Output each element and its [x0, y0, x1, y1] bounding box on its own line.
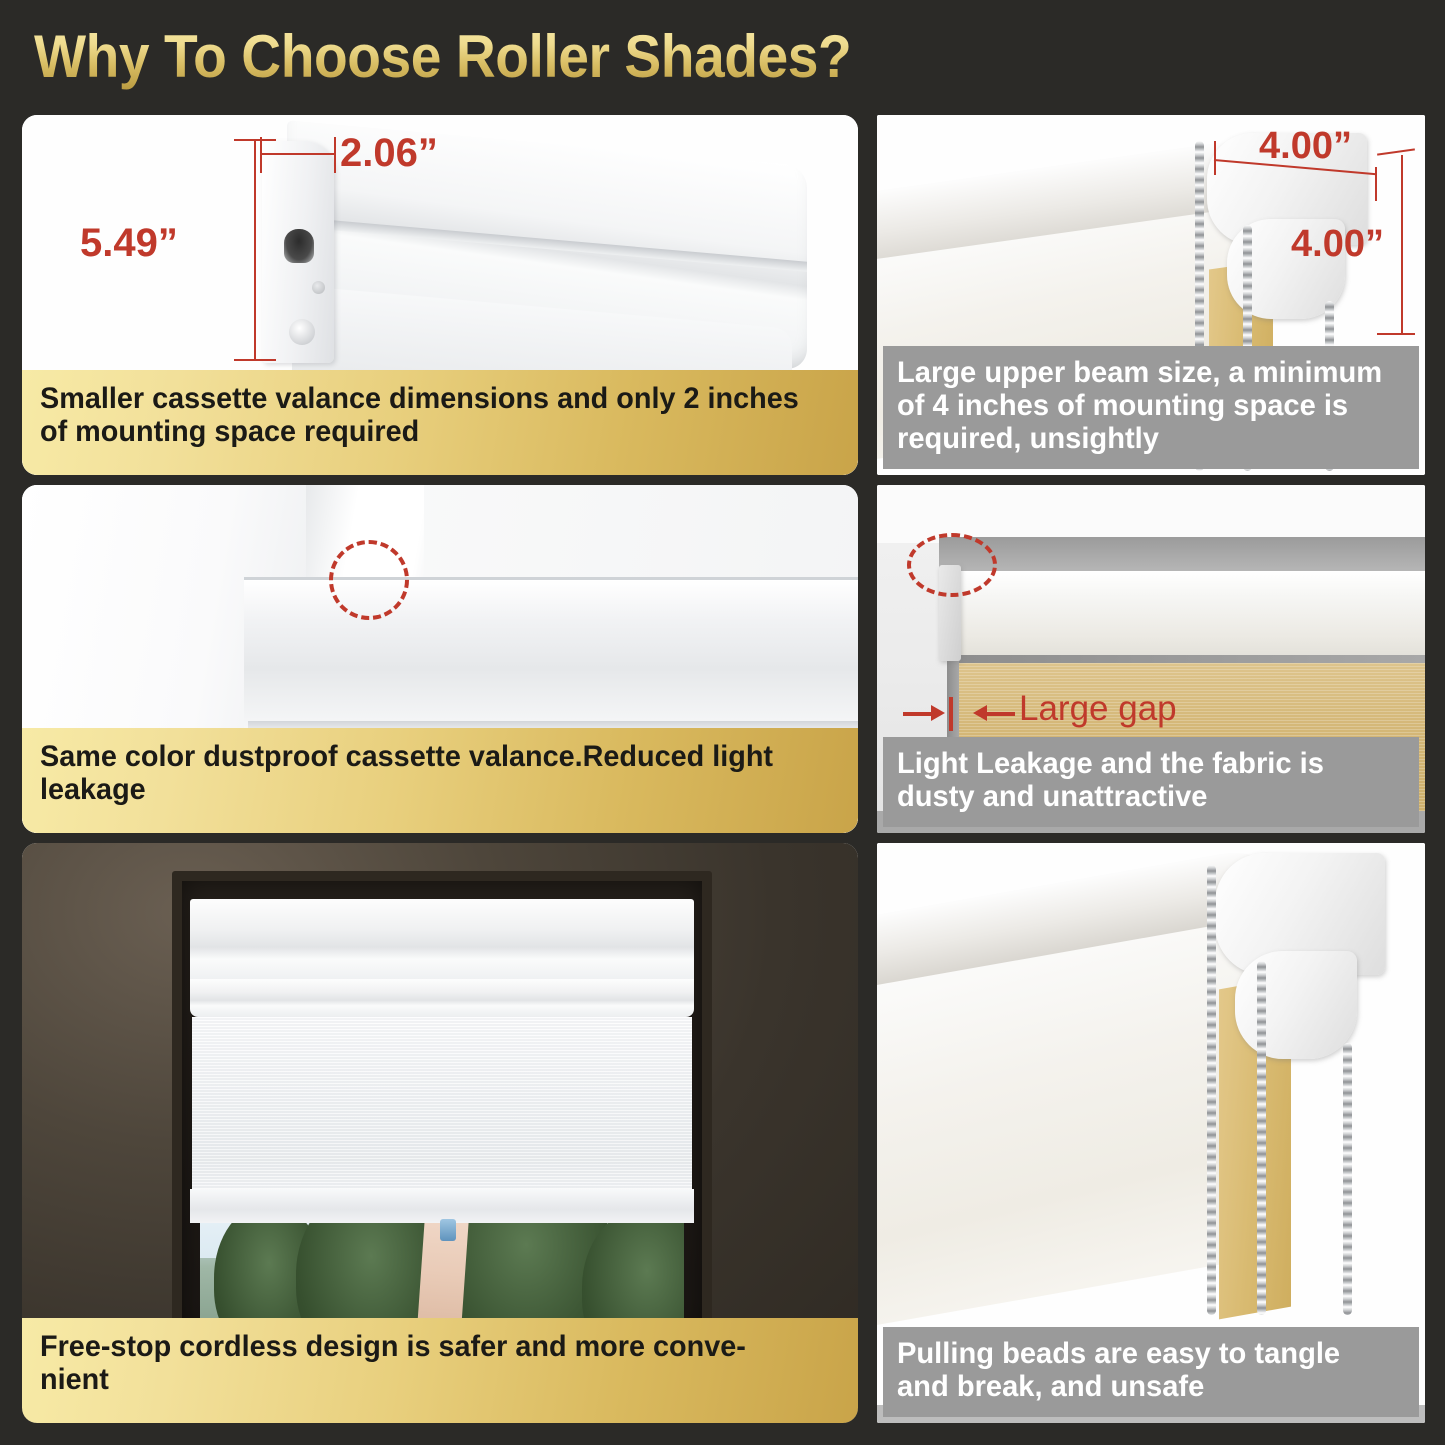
panel-pro-cordless-design: Free-stop cordless design is safer and m… [22, 843, 858, 1423]
page-title: Why To Choose Roller Shades? [34, 22, 851, 91]
bead-chain-left [1207, 865, 1216, 1315]
pull-handle [440, 1219, 456, 1241]
gap-arrow-right-head [973, 705, 987, 721]
cassette-slot-icon [284, 229, 314, 263]
window-frame-illustration [172, 871, 712, 1343]
valance-bottom-edge [947, 655, 1425, 663]
caption-con-pulling-beads: Pulling beads are easy to tangle and bre… [883, 1327, 1419, 1417]
caption-pro-dustproof-valance: Same color dustproof cassette valance.Re… [22, 728, 858, 833]
panel-con-light-leakage: Large gap Light Leakage and the fabric i… [877, 485, 1425, 833]
panel-pro-dustproof-valance: smaller gap Same color dustproof cassett… [22, 485, 858, 833]
shade-bottom-rail-illustration [190, 1189, 694, 1223]
panel-con-upper-beam-size: 4.00” 4.00” Large upper beam size, a min… [877, 115, 1425, 475]
gap-arrow-right-stem [987, 712, 1015, 716]
panel-pro-cassette-size: 2.06” 5.49” Smaller cassette valance dim… [22, 115, 858, 475]
beam-width-dimension-label: 4.00” [1259, 125, 1352, 168]
comparison-grid: 2.06” 5.49” Smaller cassette valance dim… [0, 112, 1445, 1445]
height-dimension-label: 5.49” [80, 221, 178, 266]
cassette-screw-icon [289, 319, 315, 345]
shade-fabric-illustration [192, 1017, 692, 1197]
bead-chain-mid [1257, 961, 1266, 1315]
valance-lower-lip-illustration [190, 979, 694, 1017]
gap-arrow-left-stem [903, 712, 933, 716]
upper-shadow-band [939, 537, 1425, 573]
caption-text: Light Leakage and the fabric is dusty an… [897, 747, 1390, 813]
gap-marker [949, 697, 953, 731]
cassette-valance-illustration [190, 899, 694, 985]
caption-con-light-leakage: Light Leakage and the fabric is dusty an… [883, 737, 1419, 827]
cassette-end-cap-illustration [262, 141, 334, 363]
caption-text: Smaller cassette valance dimensions and … [40, 382, 808, 449]
gap-arrow-left-head [931, 705, 945, 721]
roller-bracket-lower-illustration [1235, 951, 1357, 1059]
width-dimension-label: 2.06” [340, 131, 438, 176]
highlight-circle-gap [329, 540, 409, 620]
beam-height-dimension-label: 4.00” [1291, 223, 1384, 266]
caption-text: Same color dustproof cassette valance.Re… [40, 740, 808, 807]
caption-text: Free-stop cordless design is safer and m… [40, 1330, 808, 1397]
caption-pro-cassette-size: Smaller cassette valance dimensions and … [22, 370, 858, 475]
panel-con-pulling-beads: Pulling beads are easy to tangle and bre… [877, 843, 1425, 1423]
cassette-small-screw-icon [312, 281, 325, 294]
title-bar: Why To Choose Roller Shades? [0, 0, 1445, 112]
caption-con-upper-beam-size: Large upper beam size, a minimum of 4 in… [883, 346, 1419, 469]
highlight-circle-gap [907, 533, 997, 597]
valance-illustration [947, 571, 1425, 657]
caption-pro-cordless-design: Free-stop cordless design is safer and m… [22, 1318, 858, 1423]
caption-text: Pulling beads are easy to tangle and bre… [897, 1337, 1390, 1403]
bead-chain-right [1343, 1043, 1352, 1315]
caption-text: Large upper beam size, a minimum of 4 in… [897, 356, 1390, 455]
gap-callout-label: Large gap [1019, 689, 1177, 729]
